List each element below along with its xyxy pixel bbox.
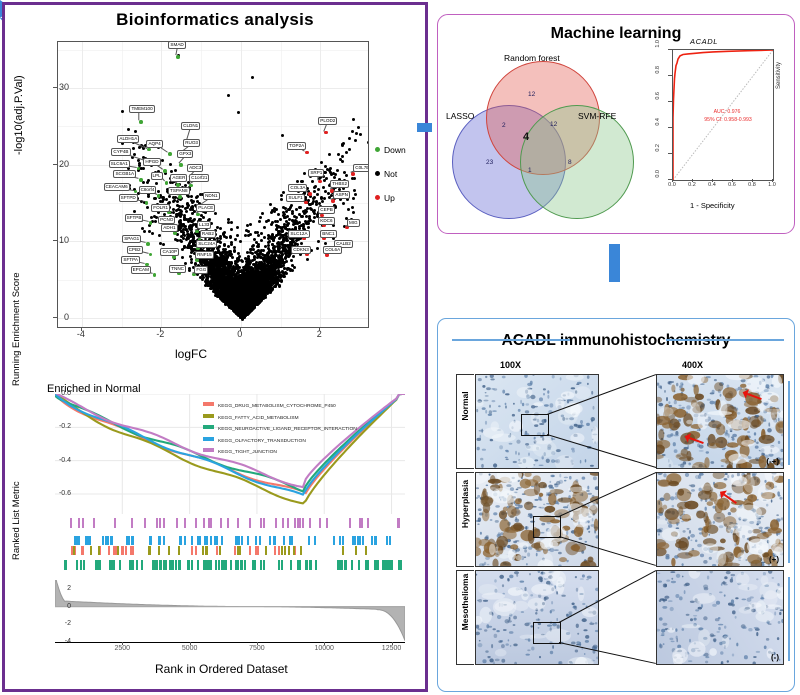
volcano-plot: -log10(adj.P.Val) SMADTMEM100ALDH1ACYP4B…: [15, 35, 425, 370]
gsea-hit-tick: [257, 546, 259, 555]
ihc-image-100x[interactable]: [475, 570, 599, 665]
volcano-gene-label: ALDH1A: [117, 135, 139, 143]
venn-count-svm-rfe-only: 8: [568, 159, 572, 166]
venn-count-lasso-only: 23: [486, 159, 493, 166]
gsea-hit-tick: [374, 536, 376, 545]
gsea-hit-tick: [315, 560, 317, 570]
gsea-hit-tick: [148, 546, 150, 555]
roc-diagonal-line: [673, 50, 773, 180]
gsea-hit-tick: [389, 536, 391, 545]
gsea-hit-tick: [89, 536, 91, 545]
volcano-gene-label: TMEM100: [129, 105, 154, 113]
volcano-gene-label: ADH1: [161, 224, 177, 232]
volcano-legend: Down Not Up: [375, 145, 406, 217]
gsea-hit-tick: [178, 546, 180, 555]
venn-label-svm-rfe: SVM-RFE: [578, 111, 616, 121]
legend-item-down: Down: [375, 145, 406, 155]
magnification-label-100x: 100X: [500, 360, 521, 370]
gsea-hit-tick: [305, 560, 307, 570]
volcano-gene-label: AQP4: [146, 140, 162, 148]
venn-label-random-forest: Random forest: [504, 53, 560, 63]
gsea-hit-tick: [374, 560, 376, 570]
gsea-hit-tick: [83, 560, 85, 570]
gsea-hit-tick: [263, 518, 265, 528]
panel-title-ihc: ACADL immunohistochemistry: [438, 319, 794, 350]
gsea-hit-tick: [249, 546, 251, 555]
gsea-hit-tick: [129, 560, 131, 570]
gsea-hit-tick: [302, 518, 304, 528]
gsea-y-tick-bottom: -2: [45, 620, 71, 627]
gsea-hit-tick: [144, 518, 146, 528]
gsea-hit-tick: [273, 536, 275, 545]
gsea-hit-tick: [70, 518, 72, 528]
gsea-hit-tick: [349, 518, 351, 528]
gsea-hit-tick: [254, 560, 256, 570]
gsea-hit-tick: [314, 536, 316, 545]
roc-y-tick: 0.6: [655, 92, 661, 108]
volcano-gene-label: SULF1: [286, 194, 304, 202]
gsea-hit-tick: [300, 546, 302, 555]
gsea-y-tick-bottom: 0: [45, 603, 71, 610]
roc-x-tick: 0.0: [664, 182, 680, 188]
gsea-hit-tick: [191, 560, 193, 570]
venn-count-lasso-svm-rfe: 1: [528, 167, 532, 174]
gsea-hit-tick: [131, 518, 133, 528]
gsea-hit-tick: [210, 536, 212, 545]
gsea-hit-tick: [195, 518, 197, 528]
gsea-hit-tick: [110, 536, 112, 545]
volcano-y-axis-label: -log10(adj.P.Val): [13, 75, 25, 155]
gsea-hit-tick: [163, 560, 165, 570]
gsea-hit-tick: [163, 518, 165, 528]
ihc-row-label-box: Normal: [456, 374, 474, 469]
volcano-gene-label: LL33: [197, 221, 211, 229]
gsea-hit-tick: [187, 560, 189, 570]
gsea-hit-tick: [299, 518, 301, 528]
volcano-gene-label: LPL: [151, 172, 163, 180]
volcano-gene-label: TNNC: [169, 265, 186, 273]
gsea-hit-tick: [333, 536, 335, 545]
gsea-hit-tick: [298, 560, 300, 570]
gsea-hit-tick: [179, 560, 181, 570]
gsea-hit-tick: [85, 536, 87, 545]
volcano-gene-label: CEACAM6: [104, 183, 130, 191]
roc-y-tick: 0.2: [655, 144, 661, 160]
gsea-hit-tick: [207, 560, 209, 570]
roc-ci-label: 95% CI: 0.958-0.993: [682, 117, 774, 123]
volcano-gene-label: TSPAN8: [168, 187, 190, 195]
roc-x-tick: 0.2: [684, 182, 700, 188]
gsea-hit-tick: [391, 560, 393, 570]
decorative-rule: [666, 339, 784, 341]
gsea-hit-tick: [98, 546, 100, 555]
gsea-hit-tick: [180, 536, 182, 545]
gsea-hit-tick: [275, 518, 277, 528]
gsea-hit-tick: [214, 536, 216, 545]
roc-y-tick: 0.0: [655, 170, 661, 186]
gsea-hit-tick: [203, 518, 205, 528]
arrow-right-shaft: [417, 123, 432, 132]
ihc-row: Hyperplasia(+): [456, 472, 782, 565]
gsea-hit-tick: [308, 536, 310, 545]
gsea-hit-tick: [76, 560, 78, 570]
gsea-x-tick: 12500: [377, 645, 407, 652]
gsea-hit-tick: [319, 518, 321, 528]
volcano-gene-label: RNF15: [195, 251, 214, 259]
ihc-row-label-box: Mesothelioma: [456, 570, 474, 665]
gsea-x-tick: 5000: [175, 645, 205, 652]
gsea-hit-tick: [284, 546, 286, 555]
volcano-gene-label: PLOD2: [318, 117, 337, 125]
ihc-row-label: Normal: [460, 370, 470, 442]
gsea-ranked-metric: [55, 580, 405, 643]
roc-auc-label: AUC: 0.976: [690, 109, 764, 115]
gsea-hit-tick: [156, 560, 158, 570]
gsea-hit-tick: [288, 546, 290, 555]
roc-y-axis-label: Sensitivity: [776, 62, 782, 89]
ihc-row-label: Hyperplasia: [460, 468, 470, 540]
volcano-gene-label: C8orf4: [139, 186, 157, 194]
gsea-hit-tick: [339, 536, 341, 545]
gsea-hit-tick: [247, 536, 249, 545]
gsea-plot: Enriched in Normal Running Enrichment Sc…: [15, 380, 425, 688]
gsea-hit-tick: [287, 518, 289, 528]
gsea-hit-tick: [281, 560, 283, 570]
ihc-image-400x[interactable]: [656, 374, 784, 469]
ihc-row-label: Mesothelioma: [460, 566, 470, 638]
gsea-y-tick-top: -0.6: [45, 490, 71, 497]
gsea-hit-tick: [230, 560, 232, 570]
gsea-hit-tick: [255, 536, 257, 545]
gsea-x-axis-label: Rank in Ordered Dataset: [155, 662, 288, 676]
gsea-hit-tick: [291, 536, 293, 545]
volcano-gene-label: BNC1: [320, 230, 336, 238]
gsea-legend-item: KEGG_FATTY_ACID_METABOLISM: [203, 414, 357, 426]
gsea-hit-tick: [281, 546, 283, 555]
gsea-hit-tick: [97, 560, 99, 570]
volcano-gene-label: SMAD: [168, 41, 185, 49]
gsea-hit-tick: [141, 560, 143, 570]
volcano-plot-area: SMADTMEM100ALDH1ACYP4BSLC6A1SCGB1ACEACAM…: [57, 41, 369, 328]
red-arrow-icon: [742, 388, 764, 404]
gsea-hit-tick: [131, 536, 133, 545]
gsea-hit-tick: [176, 518, 178, 528]
gsea-hit-tick: [206, 536, 208, 545]
decorative-bracket: [788, 479, 790, 563]
gsea-hit-tick: [382, 560, 384, 570]
legend-item-up: Up: [375, 193, 406, 203]
gsea-hit-tick: [158, 546, 160, 555]
gsea-hit-tick: [65, 560, 67, 570]
venn-circle-svm-rfe: [520, 105, 634, 219]
gsea-hit-tick: [352, 536, 354, 545]
venn-count-random-forest-svm-rfe: 12: [550, 121, 557, 128]
volcano-gene-label: RUO3: [183, 139, 200, 147]
gsea-hit-tick: [337, 560, 339, 570]
volcano-gene-label: TOP2A: [287, 142, 306, 150]
roc-y-tick: 0.4: [655, 118, 661, 134]
gsea-y-tick-bottom: -4: [45, 638, 71, 645]
gsea-hit-tick: [260, 518, 262, 528]
gsea-hit-tick: [216, 546, 218, 555]
gsea-hit-tick: [342, 536, 344, 545]
ihc-image-400x[interactable]: [656, 472, 784, 567]
ihc-row: Normal(-+): [456, 374, 782, 467]
gsea-y-axis-label-bottom: Ranked List Metric: [11, 481, 22, 560]
gsea-hit-ticks: [55, 516, 405, 578]
gsea-hit-tick: [117, 546, 119, 555]
gsea-hit-tick: [119, 560, 121, 570]
gsea-hit-tick: [197, 536, 199, 545]
gsea-hit-tick: [125, 546, 127, 555]
gsea-hit-tick: [362, 536, 364, 545]
gsea-hit-tick: [358, 560, 360, 570]
volcano-gene-label: SFTPB: [125, 214, 144, 222]
volcano-gene-label: PLACE: [196, 204, 215, 212]
gsea-hit-tick: [150, 536, 152, 545]
gsea-hit-tick: [278, 546, 280, 555]
volcano-gene-label: FOLR1: [151, 204, 170, 212]
gsea-hit-tick: [108, 546, 110, 555]
magnification-label-400x: 400X: [682, 360, 703, 370]
roc-x-tick: 1.0: [764, 182, 780, 188]
ihc-staining-sign: (-+): [766, 457, 779, 466]
gsea-hit-tick: [168, 546, 170, 555]
gsea-hit-tick: [195, 546, 197, 555]
gsea-hit-tick: [163, 536, 165, 545]
gsea-hit-tick: [216, 536, 218, 545]
gsea-hit-tick: [205, 546, 207, 555]
gsea-legend-item: KEGG_DRUG_METABOLISM_CYTOCHROME_P450: [203, 402, 357, 414]
gsea-hit-tick: [282, 518, 284, 528]
gsea-hit-tick: [238, 536, 240, 545]
gsea-hit-tick: [237, 518, 239, 528]
legend-item-not: Not: [375, 169, 406, 179]
gsea-metric-area: [55, 580, 405, 641]
volcano-gene-label: NDN1: [203, 192, 220, 200]
gsea-hit-tick: [81, 546, 83, 555]
gsea-legend: KEGG_DRUG_METABOLISM_CYTOCHROME_P450 KEG…: [203, 402, 357, 460]
gsea-hit-tick: [184, 536, 186, 545]
volcano-x-axis-label: logFC: [175, 347, 207, 361]
gsea-hit-tick: [159, 518, 161, 528]
gsea-y-axis-label-top: Running Enrichment Score: [11, 272, 22, 386]
volcano-gene-label: COL6A: [323, 246, 342, 254]
gsea-hit-tick: [220, 518, 222, 528]
gsea-hit-tick: [357, 536, 359, 545]
gsea-y-tick-top: 0.0: [45, 390, 71, 397]
gsea-hit-tick: [191, 546, 193, 555]
decorative-bracket: [788, 381, 790, 465]
gsea-y-tick-top: -0.4: [45, 457, 71, 464]
gsea-hit-tick: [355, 546, 357, 555]
volcano-gene-label: SFTPA: [121, 256, 139, 264]
gsea-hit-tick: [202, 546, 204, 555]
gsea-y-tick-bottom: 2: [45, 585, 71, 592]
gsea-hit-tick: [365, 546, 367, 555]
gsea-hit-tick: [239, 546, 241, 555]
gsea-hit-tick: [227, 518, 229, 528]
gsea-hit-tick: [240, 560, 242, 570]
volcano-gene-label: SPAG1: [122, 235, 141, 243]
gsea-hit-tick: [112, 560, 114, 570]
gsea-hit-tick: [326, 518, 328, 528]
gsea-hit-tick: [309, 518, 311, 528]
roc-curve: ACADL Sensitivity 0.00.20.40.60.81.00.00…: [646, 37, 792, 229]
red-arrow-icon: [718, 490, 740, 506]
gsea-legend-item: KEGG_NEUROACTIVE_LIGAND_RECEPTOR_INTERAC…: [203, 425, 357, 437]
gsea-hit-tick: [283, 536, 285, 545]
volcano-gene-label: CDKN3: [291, 246, 311, 254]
gsea-legend-item: KEGG_OLFACTORY_TRANSDUCTION: [203, 437, 357, 449]
gsea-hit-tick: [160, 560, 162, 570]
gsea-hit-tick: [249, 518, 251, 528]
roc-y-tick: 0.8: [655, 66, 661, 82]
red-arrow-icon: [684, 432, 706, 448]
ihc-image-400x[interactable]: [656, 570, 784, 665]
gsea-hit-tick: [78, 536, 80, 545]
gsea-hit-tick: [221, 536, 223, 545]
gsea-hit-tick: [260, 560, 262, 570]
gsea-hit-tick: [385, 560, 387, 570]
venn-diagram: LASSO Random forest SVM-RFE 23 12 8 2 12…: [446, 47, 642, 229]
gsea-hit-tick: [184, 518, 186, 528]
venn-count-lasso-random-forest: 2: [502, 122, 506, 129]
gsea-hit-tick: [269, 536, 271, 545]
volcano-gene-label: FGG: [194, 266, 208, 274]
gsea-hit-tick: [342, 546, 344, 555]
volcano-gene-label: KDC6: [318, 217, 334, 225]
gsea-hit-tick: [78, 518, 80, 528]
gsea-hit-tick: [265, 546, 267, 555]
volcano-gene-label: ASPN: [333, 191, 350, 199]
volcano-gene-label: CPB2: [127, 246, 143, 254]
volcano-gene-label: SLC6A1: [109, 160, 130, 168]
roc-x-tick: 0.6: [724, 182, 740, 188]
gsea-hit-tick: [223, 560, 225, 570]
venn-count-all-three: 4: [523, 131, 529, 143]
bioinformatics-panel: Bioinformatics analysis -log10(adj.P.Val…: [2, 2, 428, 692]
roc-plot-area: [672, 49, 774, 181]
gsea-hit-tick: [197, 560, 199, 570]
roc-y-tick: 1.0: [655, 40, 661, 56]
volcano-gene-label: SFTPD: [119, 194, 138, 202]
gsea-hit-tick: [341, 560, 343, 570]
gsea-hit-tick: [159, 536, 161, 545]
gsea-hit-tick: [80, 560, 82, 570]
gsea-hit-tick: [90, 546, 92, 555]
ihc-roi-box: [533, 516, 561, 538]
gsea-x-tick: 7500: [242, 645, 272, 652]
gsea-hit-tick: [351, 560, 353, 570]
volcano-gene-label: PCNO: [158, 216, 175, 224]
gsea-hit-tick: [215, 560, 217, 570]
gsea-hit-tick: [293, 546, 295, 555]
gsea-hit-tick: [225, 560, 227, 570]
gsea-hit-tick: [152, 560, 154, 570]
volcano-gene-label: SRP1: [308, 169, 324, 177]
gsea-hit-tick: [175, 560, 177, 570]
volcano-gene-label: EPCAM: [131, 266, 151, 274]
volcano-gene-label: C0L7BP: [353, 164, 369, 172]
ihc-row-label-box: Hyperplasia: [456, 472, 474, 567]
gsea-hit-tick: [359, 518, 361, 528]
decorative-bracket: [788, 577, 790, 661]
ihc-staining-sign: (-): [771, 653, 779, 662]
roc-x-tick: 0.4: [704, 182, 720, 188]
gsea-hit-tick: [367, 518, 369, 528]
panel-title-bioinformatics: Bioinformatics analysis: [5, 5, 425, 30]
arrow-down-shaft: [609, 244, 620, 282]
volcano-gene-label: SCGB1A: [113, 170, 136, 178]
ihc-panel: ACADL immunohistochemistry 100X 400X Nor…: [437, 318, 795, 692]
ihc-roi-box: [521, 414, 549, 436]
volcano-gene-label: AGER: [170, 174, 187, 182]
gsea-hit-tick: [128, 536, 130, 545]
gsea-hit-tick: [114, 518, 116, 528]
ihc-roi-box: [533, 622, 561, 644]
volcano-gene-label: C1orf21: [189, 174, 209, 182]
roc-x-axis-label: 1 - Specificity: [690, 201, 735, 210]
gsea-hit-tick: [132, 560, 134, 570]
volcano-gene-label: COL3A: [288, 184, 307, 192]
gsea-hit-tick: [259, 536, 261, 545]
machine-learning-panel: Machine learning LASSO Random forest SVM…: [437, 14, 795, 234]
gsea-hit-tick: [219, 546, 221, 555]
gsea-hit-tick: [73, 546, 75, 555]
gsea-hit-tick: [74, 536, 76, 545]
venn-label-lasso: LASSO: [446, 111, 474, 121]
gsea-hit-tick: [274, 546, 276, 555]
gsea-hit-tick: [290, 560, 292, 570]
volcano-gene-label: SLC24A: [196, 240, 217, 248]
decorative-rule: [452, 339, 570, 341]
volcano-gene-label: CYP4B: [111, 148, 130, 156]
gsea-hit-tick: [93, 518, 95, 528]
gsea-x-tick: 10000: [309, 645, 339, 652]
gsea-hit-tick: [345, 560, 347, 570]
volcano-gene-label: RAB2: [200, 230, 216, 238]
gsea-hit-tick: [241, 536, 243, 545]
gsea-hit-tick: [398, 518, 400, 528]
volcano-gene-label: GPX3: [177, 150, 193, 158]
volcano-gene-label: HPGD: [143, 158, 160, 166]
roc-title: ACADL: [690, 37, 718, 46]
gsea-hit-tick: [235, 560, 237, 570]
volcano-gene-label: ADC3: [187, 164, 203, 172]
gsea-legend-item: KEGG_TIGHT_JUNCTION: [203, 448, 357, 460]
gsea-hit-tick: [218, 560, 220, 570]
volcano-gene-label: CEPB: [318, 206, 335, 214]
roc-x-tick: 0.8: [744, 182, 760, 188]
gsea-hit-tick: [165, 560, 167, 570]
gsea-hit-tick: [244, 560, 246, 570]
gsea-hit-tick: [82, 518, 84, 528]
gsea-x-tick: 2500: [107, 645, 137, 652]
ihc-row: Mesothelioma(-): [456, 570, 782, 663]
venn-count-random-forest-only: 12: [528, 91, 535, 98]
gsea-y-tick-top: -0.2: [45, 423, 71, 430]
volcano-gene-label: CA10P: [160, 248, 179, 256]
volcano-gene-label: MIG: [347, 219, 360, 227]
volcano-gene-label: THBS2: [330, 180, 349, 188]
gsea-hit-tick: [263, 560, 265, 570]
ihc-staining-sign: (+): [769, 555, 779, 564]
gsea-hit-tick: [208, 518, 210, 528]
gsea-hit-tick: [365, 560, 367, 570]
gsea-hit-tick: [388, 560, 390, 570]
gsea-hit-tick: [132, 546, 134, 555]
